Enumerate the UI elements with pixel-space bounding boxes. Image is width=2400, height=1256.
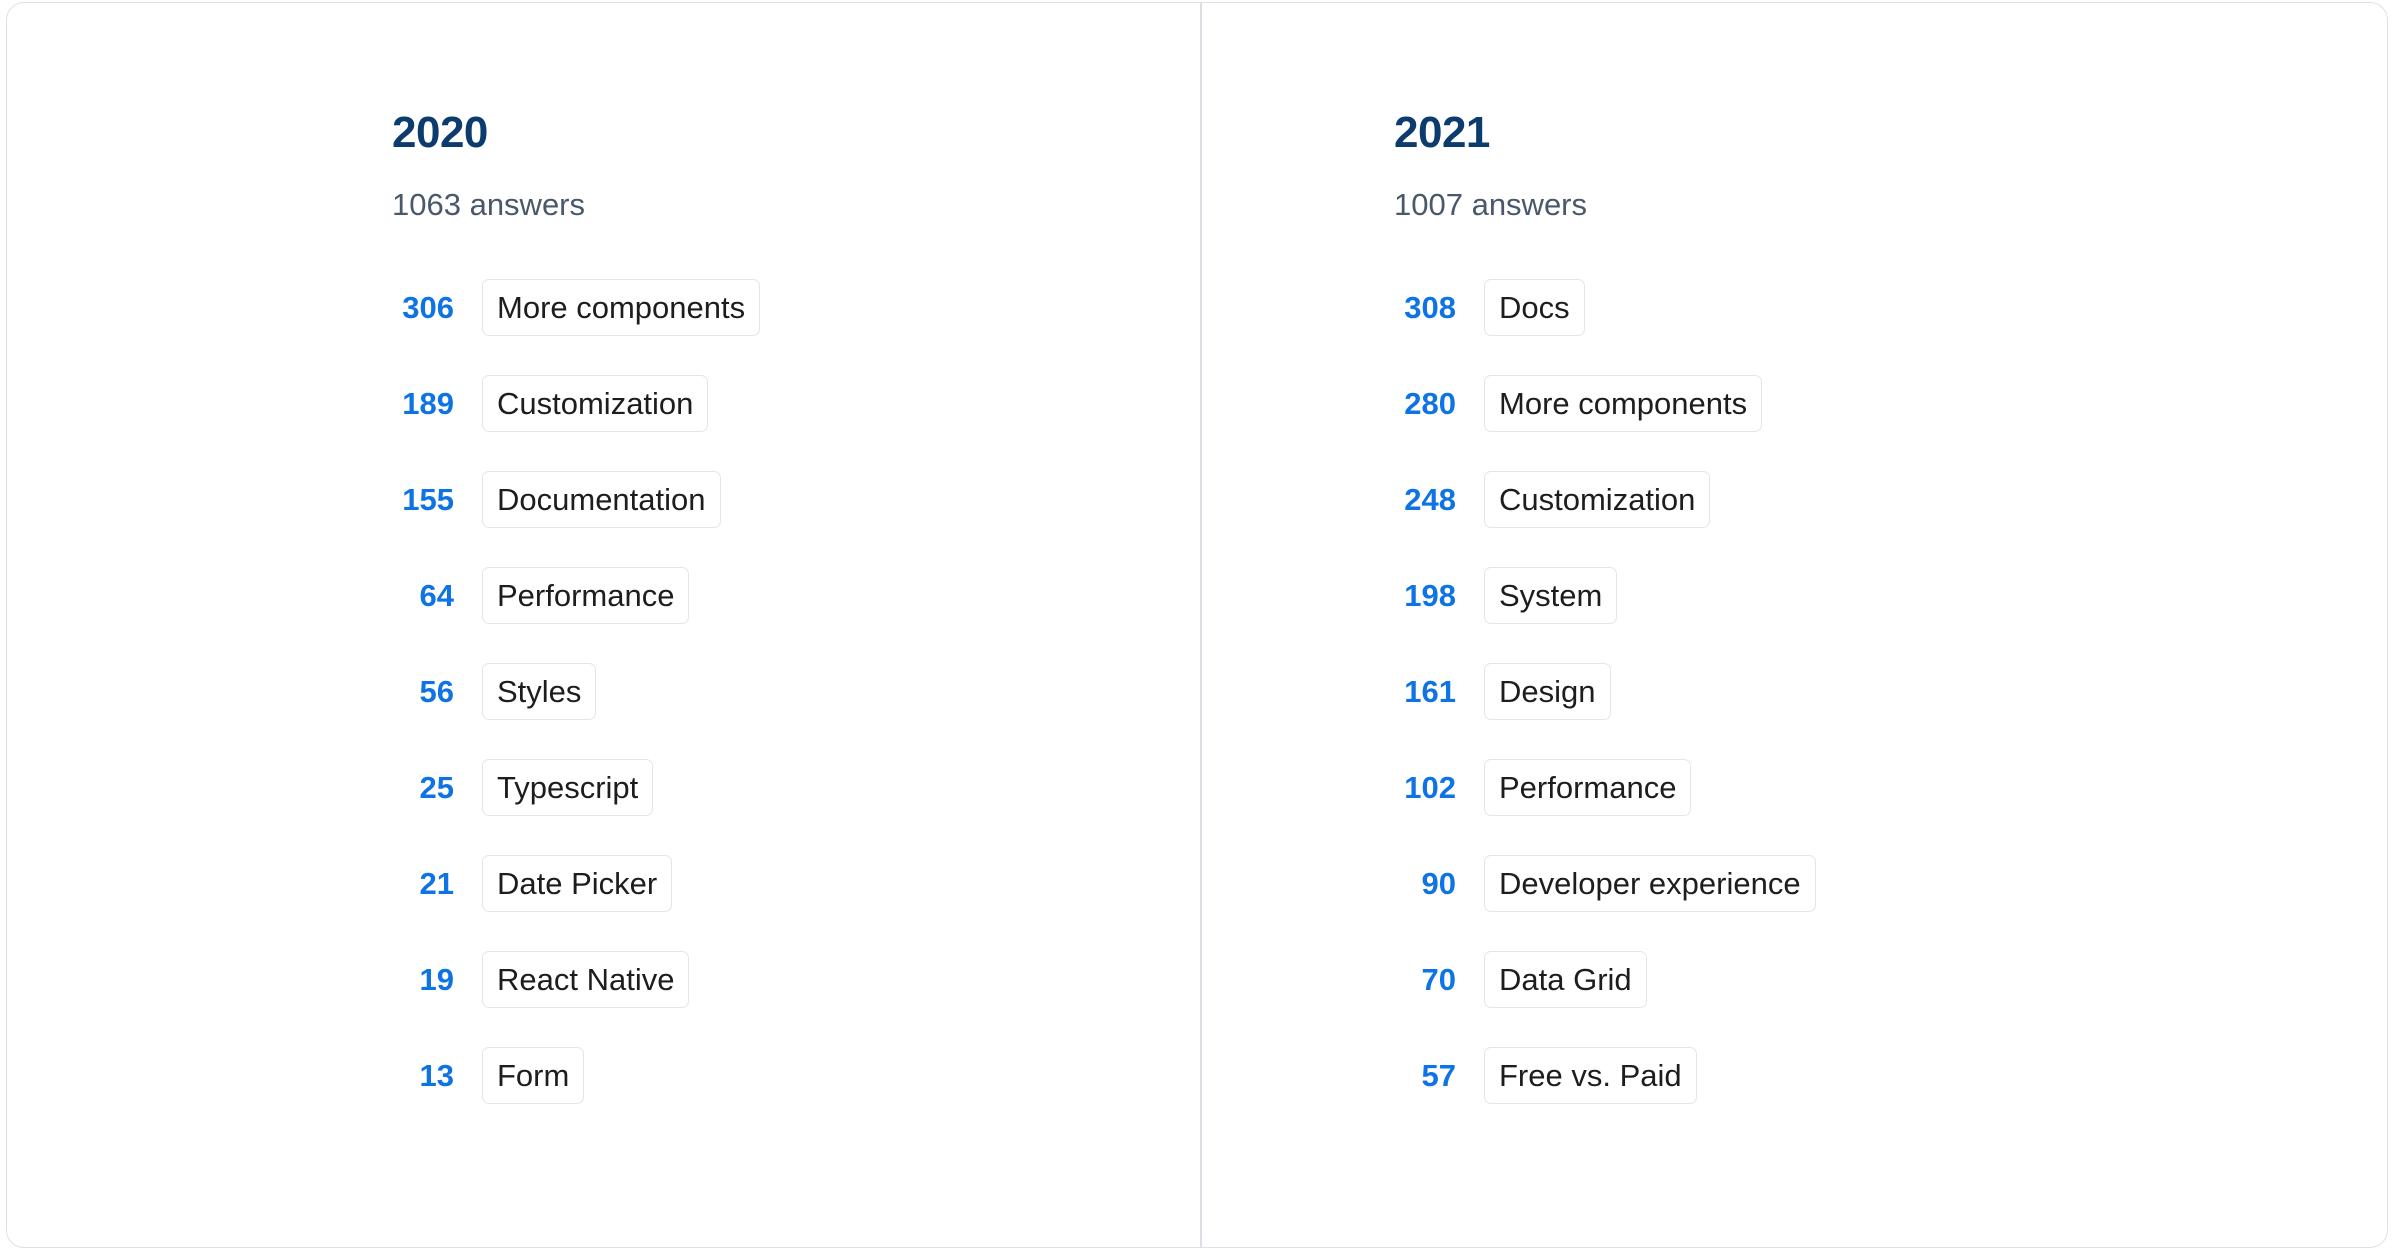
- survey-comparison-card: 2020 1063 answers 306 More components 18…: [6, 2, 2388, 1248]
- result-label-chip[interactable]: More components: [1484, 375, 1762, 432]
- result-count: 161: [1394, 676, 1456, 707]
- result-label-chip[interactable]: More components: [482, 279, 760, 336]
- list-item[interactable]: 19 React Native: [392, 950, 760, 1008]
- result-label-chip[interactable]: Docs: [1484, 279, 1585, 336]
- result-label-chip[interactable]: Form: [482, 1047, 584, 1104]
- result-count: 155: [392, 484, 454, 515]
- result-label-chip[interactable]: System: [1484, 567, 1617, 624]
- result-count: 13: [392, 1060, 454, 1091]
- page-title-2021: 2021: [1394, 111, 1816, 155]
- result-count: 198: [1394, 580, 1456, 611]
- result-label-chip[interactable]: React Native: [482, 951, 689, 1008]
- result-count: 25: [392, 772, 454, 803]
- result-count: 21: [392, 868, 454, 899]
- result-label-chip[interactable]: Design: [1484, 663, 1611, 720]
- result-count: 306: [392, 292, 454, 323]
- result-count: 70: [1394, 964, 1456, 995]
- list-item[interactable]: 161 Design: [1394, 662, 1816, 720]
- panel-2020: 2020 1063 answers 306 More components 18…: [7, 3, 1200, 1247]
- list-item[interactable]: 198 System: [1394, 566, 1816, 624]
- panel-2021: 2021 1007 answers 308 Docs 280 More comp…: [1200, 3, 2387, 1247]
- result-count: 102: [1394, 772, 1456, 803]
- list-item[interactable]: 280 More components: [1394, 374, 1816, 432]
- list-item[interactable]: 248 Customization: [1394, 470, 1816, 528]
- list-item[interactable]: 90 Developer experience: [1394, 854, 1816, 912]
- list-item[interactable]: 21 Date Picker: [392, 854, 760, 912]
- list-item[interactable]: 189 Customization: [392, 374, 760, 432]
- result-label-chip[interactable]: Performance: [482, 567, 689, 624]
- result-label-chip[interactable]: Developer experience: [1484, 855, 1816, 912]
- result-label-chip[interactable]: Styles: [482, 663, 596, 720]
- result-count: 90: [1394, 868, 1456, 899]
- answers-count-2020: 1063 answers: [392, 189, 760, 220]
- result-label-chip[interactable]: Customization: [482, 375, 708, 432]
- result-label-chip[interactable]: Data Grid: [1484, 951, 1647, 1008]
- list-item[interactable]: 13 Form: [392, 1046, 760, 1104]
- list-item[interactable]: 102 Performance: [1394, 758, 1816, 816]
- result-count: 308: [1394, 292, 1456, 323]
- list-item[interactable]: 308 Docs: [1394, 278, 1816, 336]
- list-item[interactable]: 56 Styles: [392, 662, 760, 720]
- result-count: 57: [1394, 1060, 1456, 1091]
- result-count: 280: [1394, 388, 1456, 419]
- list-item[interactable]: 70 Data Grid: [1394, 950, 1816, 1008]
- panel-2020-content: 2020 1063 answers 306 More components 18…: [7, 3, 760, 1104]
- page-title-2020: 2020: [392, 111, 760, 155]
- result-count: 248: [1394, 484, 1456, 515]
- list-item[interactable]: 64 Performance: [392, 566, 760, 624]
- result-count: 189: [392, 388, 454, 419]
- list-item[interactable]: 306 More components: [392, 278, 760, 336]
- result-count: 56: [392, 676, 454, 707]
- result-count: 19: [392, 964, 454, 995]
- result-list-2020: 306 More components 189 Customization 15…: [392, 278, 760, 1104]
- result-label-chip[interactable]: Free vs. Paid: [1484, 1047, 1697, 1104]
- list-item[interactable]: 25 Typescript: [392, 758, 760, 816]
- panel-2021-content: 2021 1007 answers 308 Docs 280 More comp…: [1202, 3, 1816, 1104]
- result-label-chip[interactable]: Performance: [1484, 759, 1691, 816]
- result-label-chip[interactable]: Customization: [1484, 471, 1710, 528]
- list-item[interactable]: 57 Free vs. Paid: [1394, 1046, 1816, 1104]
- list-item[interactable]: 155 Documentation: [392, 470, 760, 528]
- result-count: 64: [392, 580, 454, 611]
- result-label-chip[interactable]: Documentation: [482, 471, 721, 528]
- result-label-chip[interactable]: Typescript: [482, 759, 653, 816]
- result-label-chip[interactable]: Date Picker: [482, 855, 672, 912]
- answers-count-2021: 1007 answers: [1394, 189, 1816, 220]
- result-list-2021: 308 Docs 280 More components 248 Customi…: [1394, 278, 1816, 1104]
